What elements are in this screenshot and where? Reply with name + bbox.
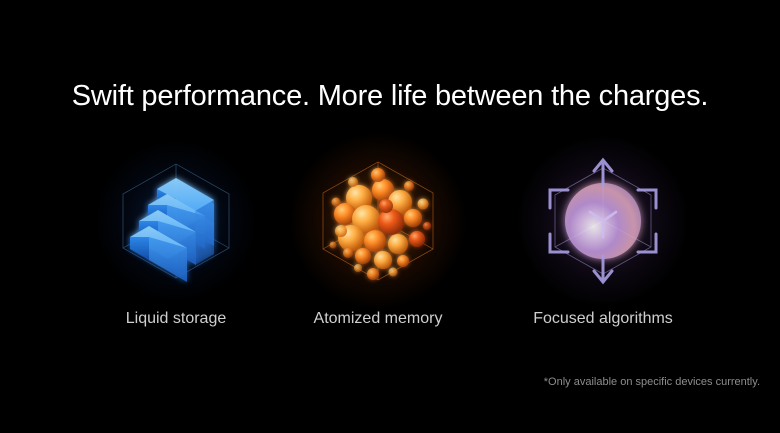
feature-icon-wrap: [528, 146, 678, 296]
feature-item-liquid-storage[interactable]: Liquid storage: [91, 146, 261, 328]
page-title: Swift performance. More life between the…: [0, 80, 780, 113]
feature-label: Atomized memory: [293, 310, 463, 328]
feature-label: Focused algorithms: [518, 310, 688, 328]
focus-arrows-sphere-icon: [528, 146, 678, 296]
footnote-text: *Only available on specific devices curr…: [544, 376, 760, 388]
feature-label: Liquid storage: [91, 310, 261, 328]
feature-item-atomized-memory[interactable]: Atomized memory: [293, 146, 463, 328]
isometric-staircase-cube-icon: [101, 146, 251, 296]
sphere-cluster-cube-icon: [303, 146, 453, 296]
feature-icon-wrap: [101, 146, 251, 296]
feature-row: Liquid storage: [0, 146, 780, 341]
promo-slide: Swift performance. More life between the…: [0, 0, 780, 433]
feature-icon-wrap: [303, 146, 453, 296]
feature-item-focused-algorithms[interactable]: Focused algorithms: [518, 146, 688, 328]
